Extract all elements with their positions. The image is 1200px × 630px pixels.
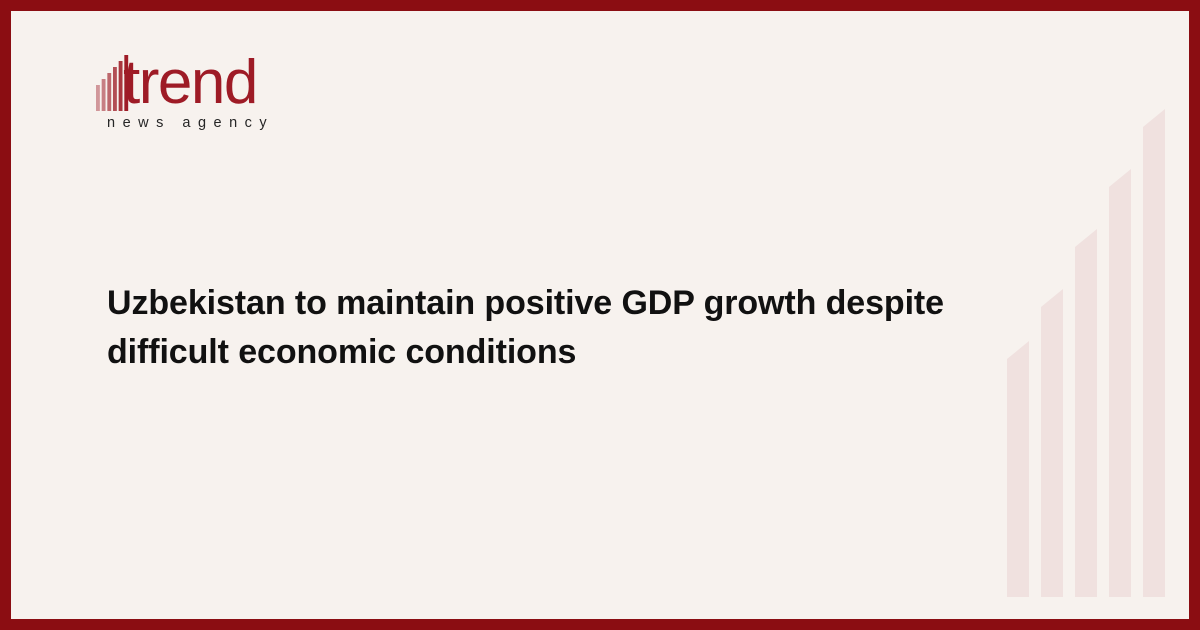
page-title: Uzbekistan to maintain positive GDP grow… [107, 279, 1047, 377]
social-share-card: trend news agency Uzbekistan to maintain… [0, 0, 1200, 630]
watermark-bar-4 [1109, 169, 1131, 597]
watermark-bar-5 [1143, 109, 1165, 597]
headline-line-1: Uzbekistan to maintain positive GDP grow… [107, 284, 944, 322]
logo-primary-row: trend [96, 49, 356, 111]
logo-tagline: news agency [107, 115, 356, 131]
watermark-bar-1 [1007, 341, 1029, 597]
logo-mark-bar-1 [96, 85, 100, 111]
logo-mark-bar-2 [102, 79, 106, 111]
logo-mark-bar-3 [107, 73, 111, 111]
headline-line-2: difficult economic conditions [107, 333, 576, 371]
watermark-bar-3 [1075, 229, 1097, 597]
logo-mark-bar-4 [113, 67, 117, 111]
logo-wordmark: trend [123, 54, 257, 111]
logo-mark-bar-5 [119, 61, 123, 111]
trend-news-agency-logo[interactable]: trend news agency [96, 49, 356, 131]
card-content-area: trend news agency Uzbekistan to maintain… [11, 11, 1189, 619]
